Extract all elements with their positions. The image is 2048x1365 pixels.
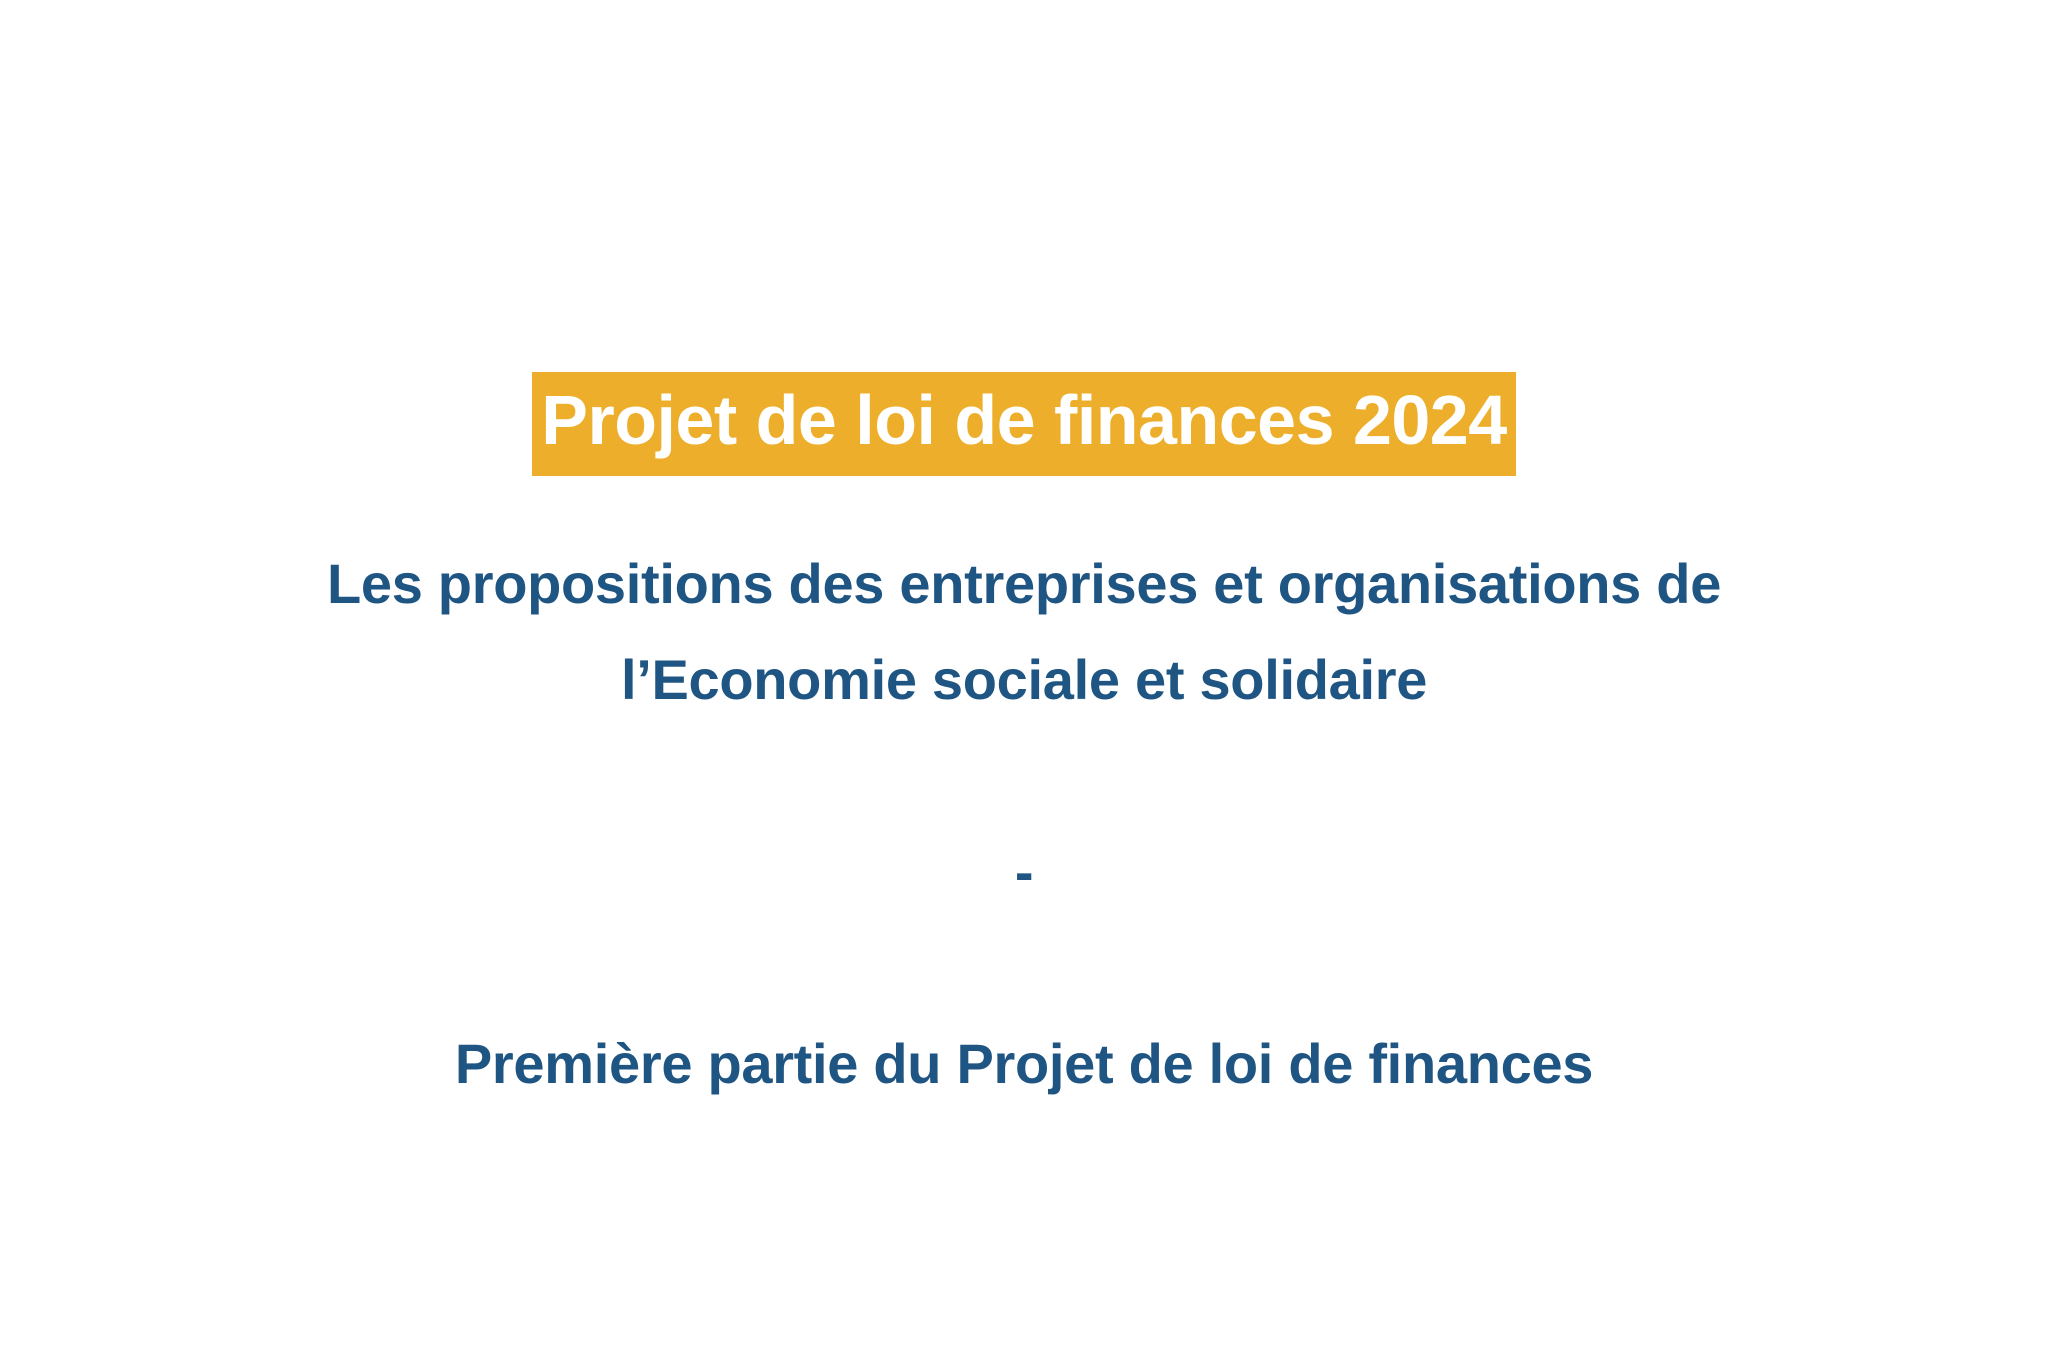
subtitle-line-2: l’Economie sociale et solidaire	[0, 632, 2048, 728]
title-row: Projet de loi de finances 2024	[0, 372, 2048, 476]
subtitle-spacer	[0, 728, 2048, 824]
subtitle-block: Les propositions des entreprises et orga…	[0, 536, 2048, 1112]
subtitle-line-1: Les propositions des entreprises et orga…	[0, 536, 2048, 632]
separator-spacer	[0, 920, 2048, 1016]
section-heading: Première partie du Projet de loi de fina…	[0, 1016, 2048, 1112]
separator-dash: -	[0, 824, 2048, 920]
page-title: Projet de loi de finances 2024	[532, 372, 1515, 476]
title-slide: Projet de loi de finances 2024 Les propo…	[0, 0, 2048, 1365]
